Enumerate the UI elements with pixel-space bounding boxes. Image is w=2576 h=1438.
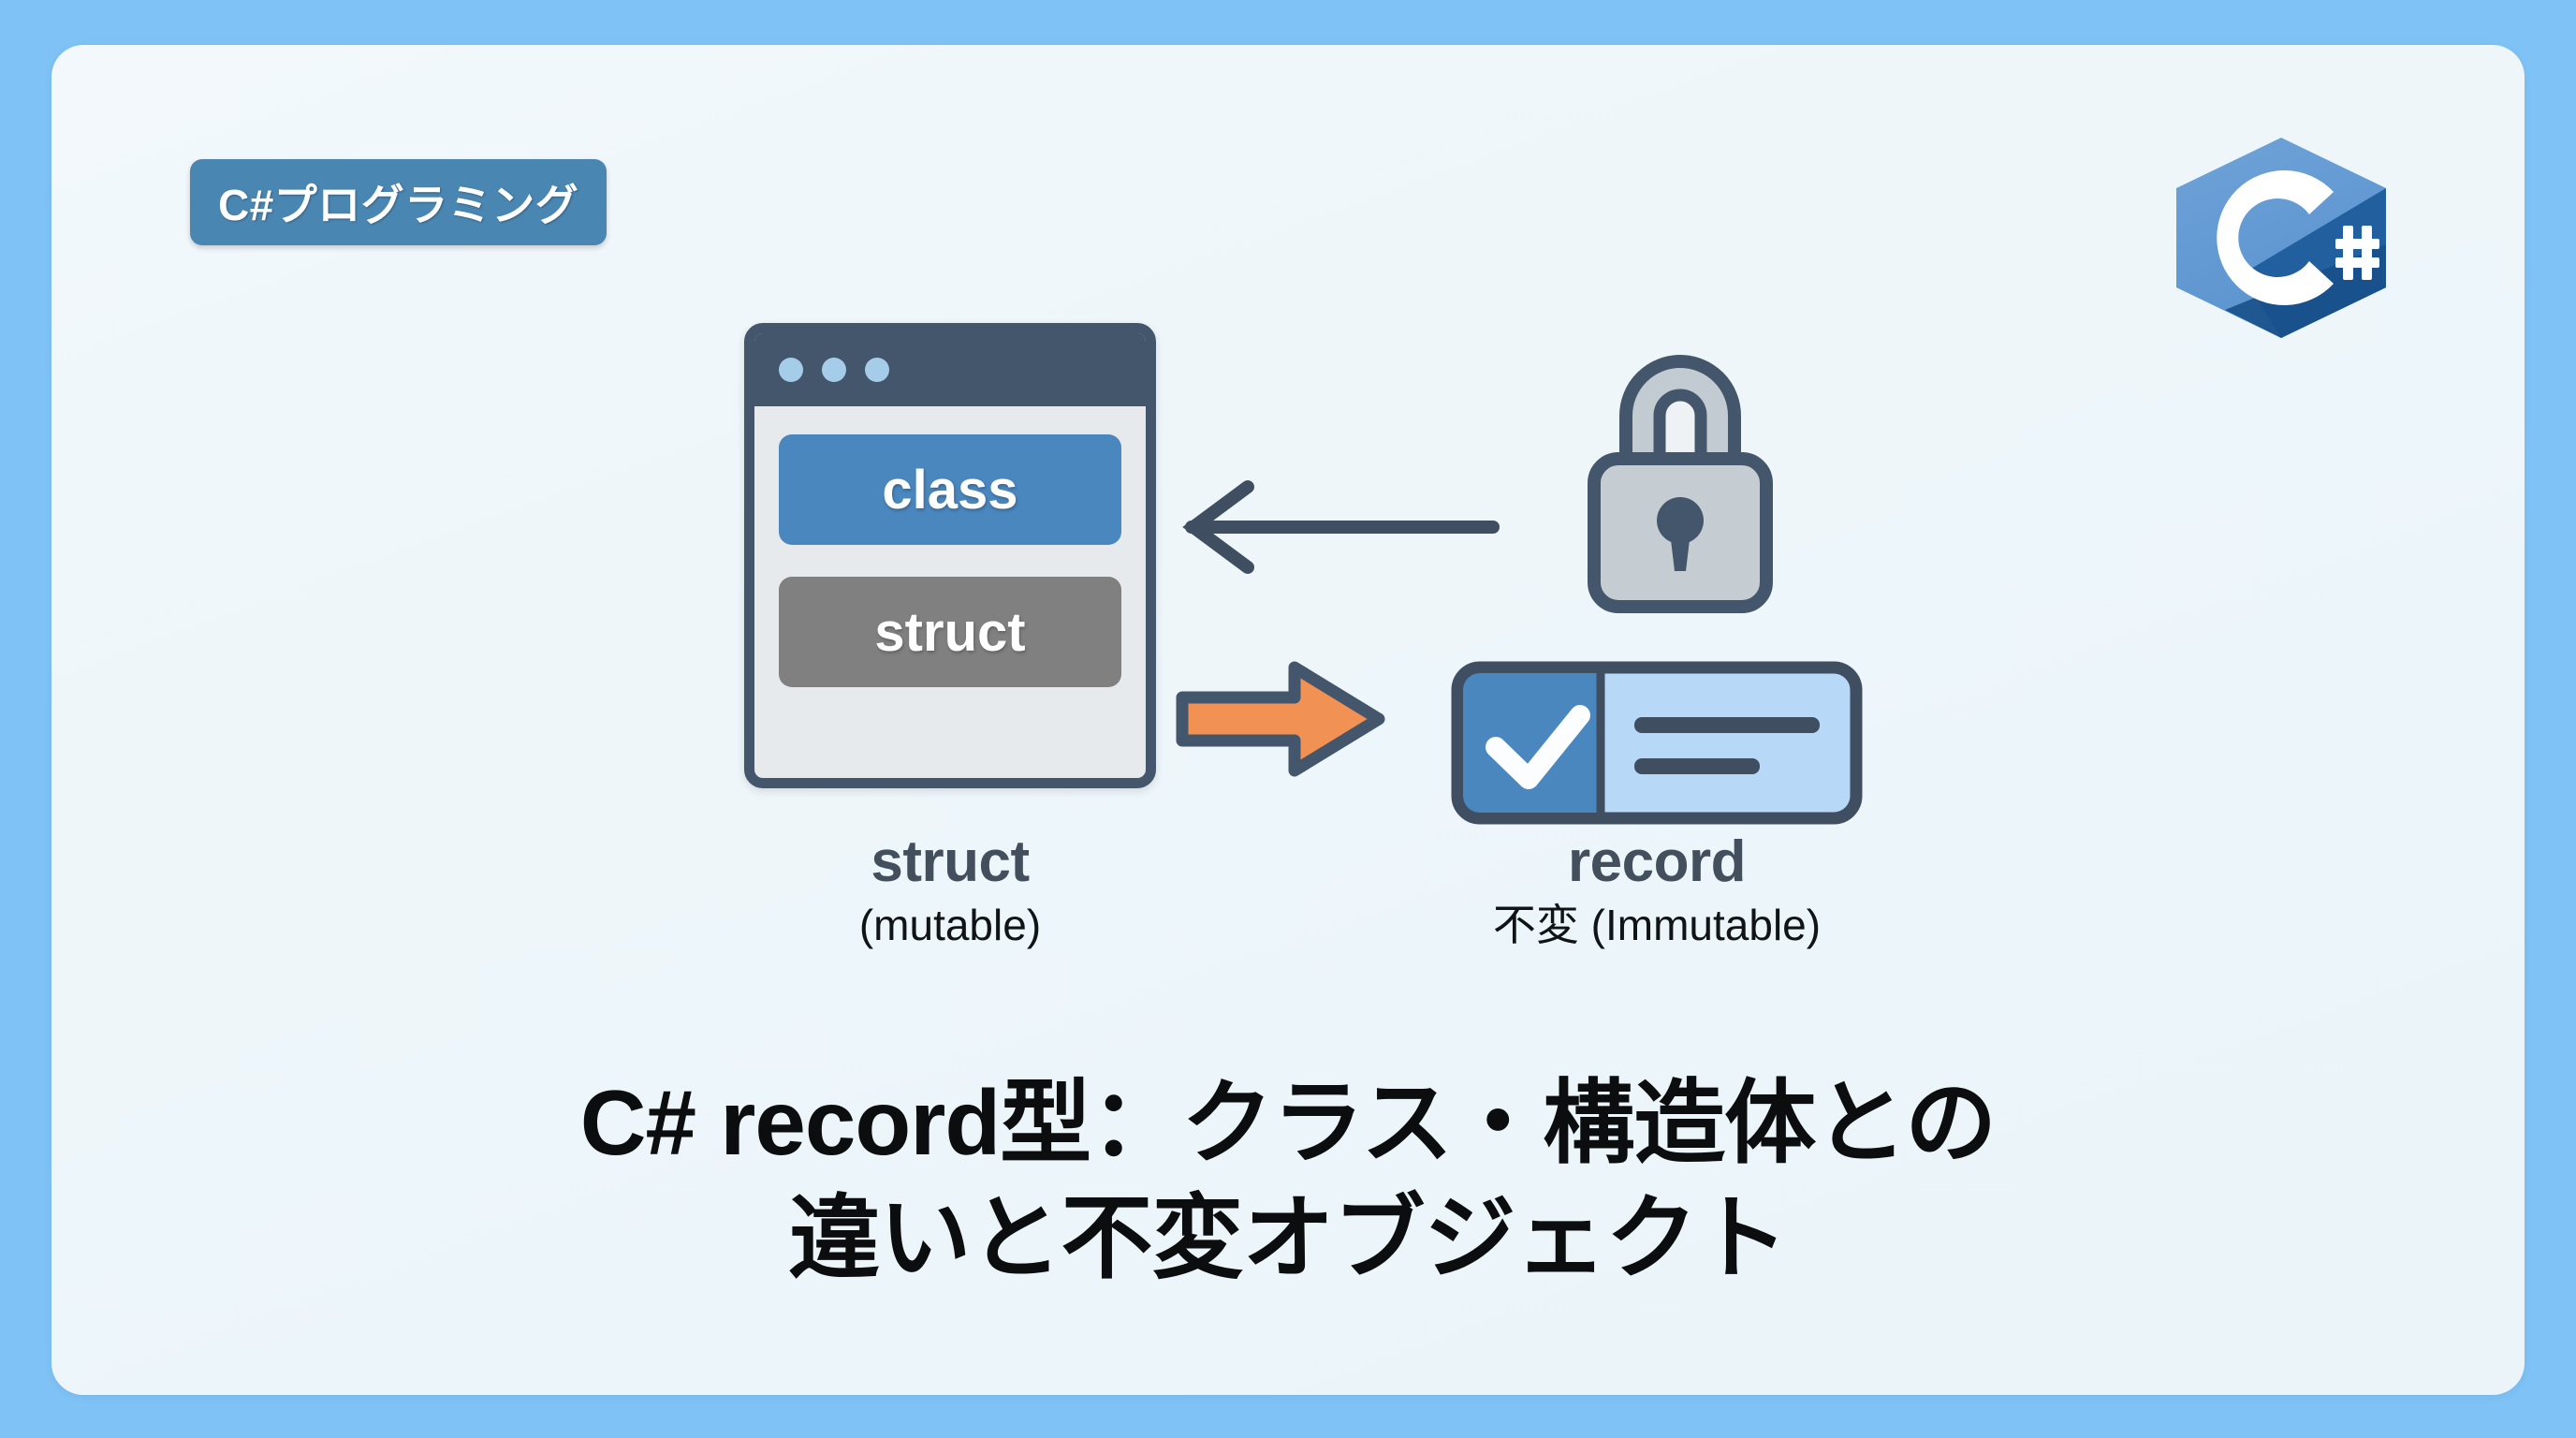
window-dot-2 — [822, 358, 846, 382]
arrow-right-struct-to-record — [1171, 658, 1386, 780]
caption-record-title: record — [1413, 829, 1900, 894]
window-dot-3 — [865, 358, 889, 382]
content-card: C#プログラミング — [51, 45, 2525, 1395]
caption-record: record 不変 (Immutable) — [1413, 829, 1900, 952]
orange-block-arrow — [1182, 668, 1379, 770]
category-badge: C#プログラミング — [190, 159, 607, 245]
keyword-pill-struct: struct — [779, 577, 1121, 687]
csharp-logo — [2169, 134, 2393, 342]
code-window-body: class struct — [754, 406, 1146, 715]
caption-struct: struct (mutable) — [744, 829, 1156, 952]
code-window-titlebar — [754, 333, 1146, 406]
padlock-icon — [1559, 326, 1802, 616]
caption-struct-subtitle: (mutable) — [744, 900, 1156, 951]
keyword-pill-class: class — [779, 434, 1121, 545]
code-window: class struct — [744, 323, 1156, 788]
record-line-1 — [1634, 717, 1820, 733]
category-badge-label: C#プログラミング — [218, 171, 578, 233]
record-line-2 — [1634, 758, 1760, 774]
page-title-line-1: C# record型：クラス・構造体との — [51, 1065, 2525, 1181]
caption-record-subtitle: 不変 (Immutable) — [1413, 900, 1900, 951]
record-card-icon — [1451, 661, 1863, 825]
page-title: C# record型：クラス・構造体との 違いと不変オブジェクト — [51, 1065, 2525, 1297]
arrow-left-lock-to-class — [1165, 476, 1502, 579]
page-title-line-2: 違いと不変オブジェクト — [51, 1181, 2525, 1296]
record-card-check-panel — [1463, 673, 1601, 813]
window-dot-1 — [779, 358, 803, 382]
caption-struct-title: struct — [744, 829, 1156, 894]
outer-frame: C#プログラミング — [0, 0, 2576, 1438]
